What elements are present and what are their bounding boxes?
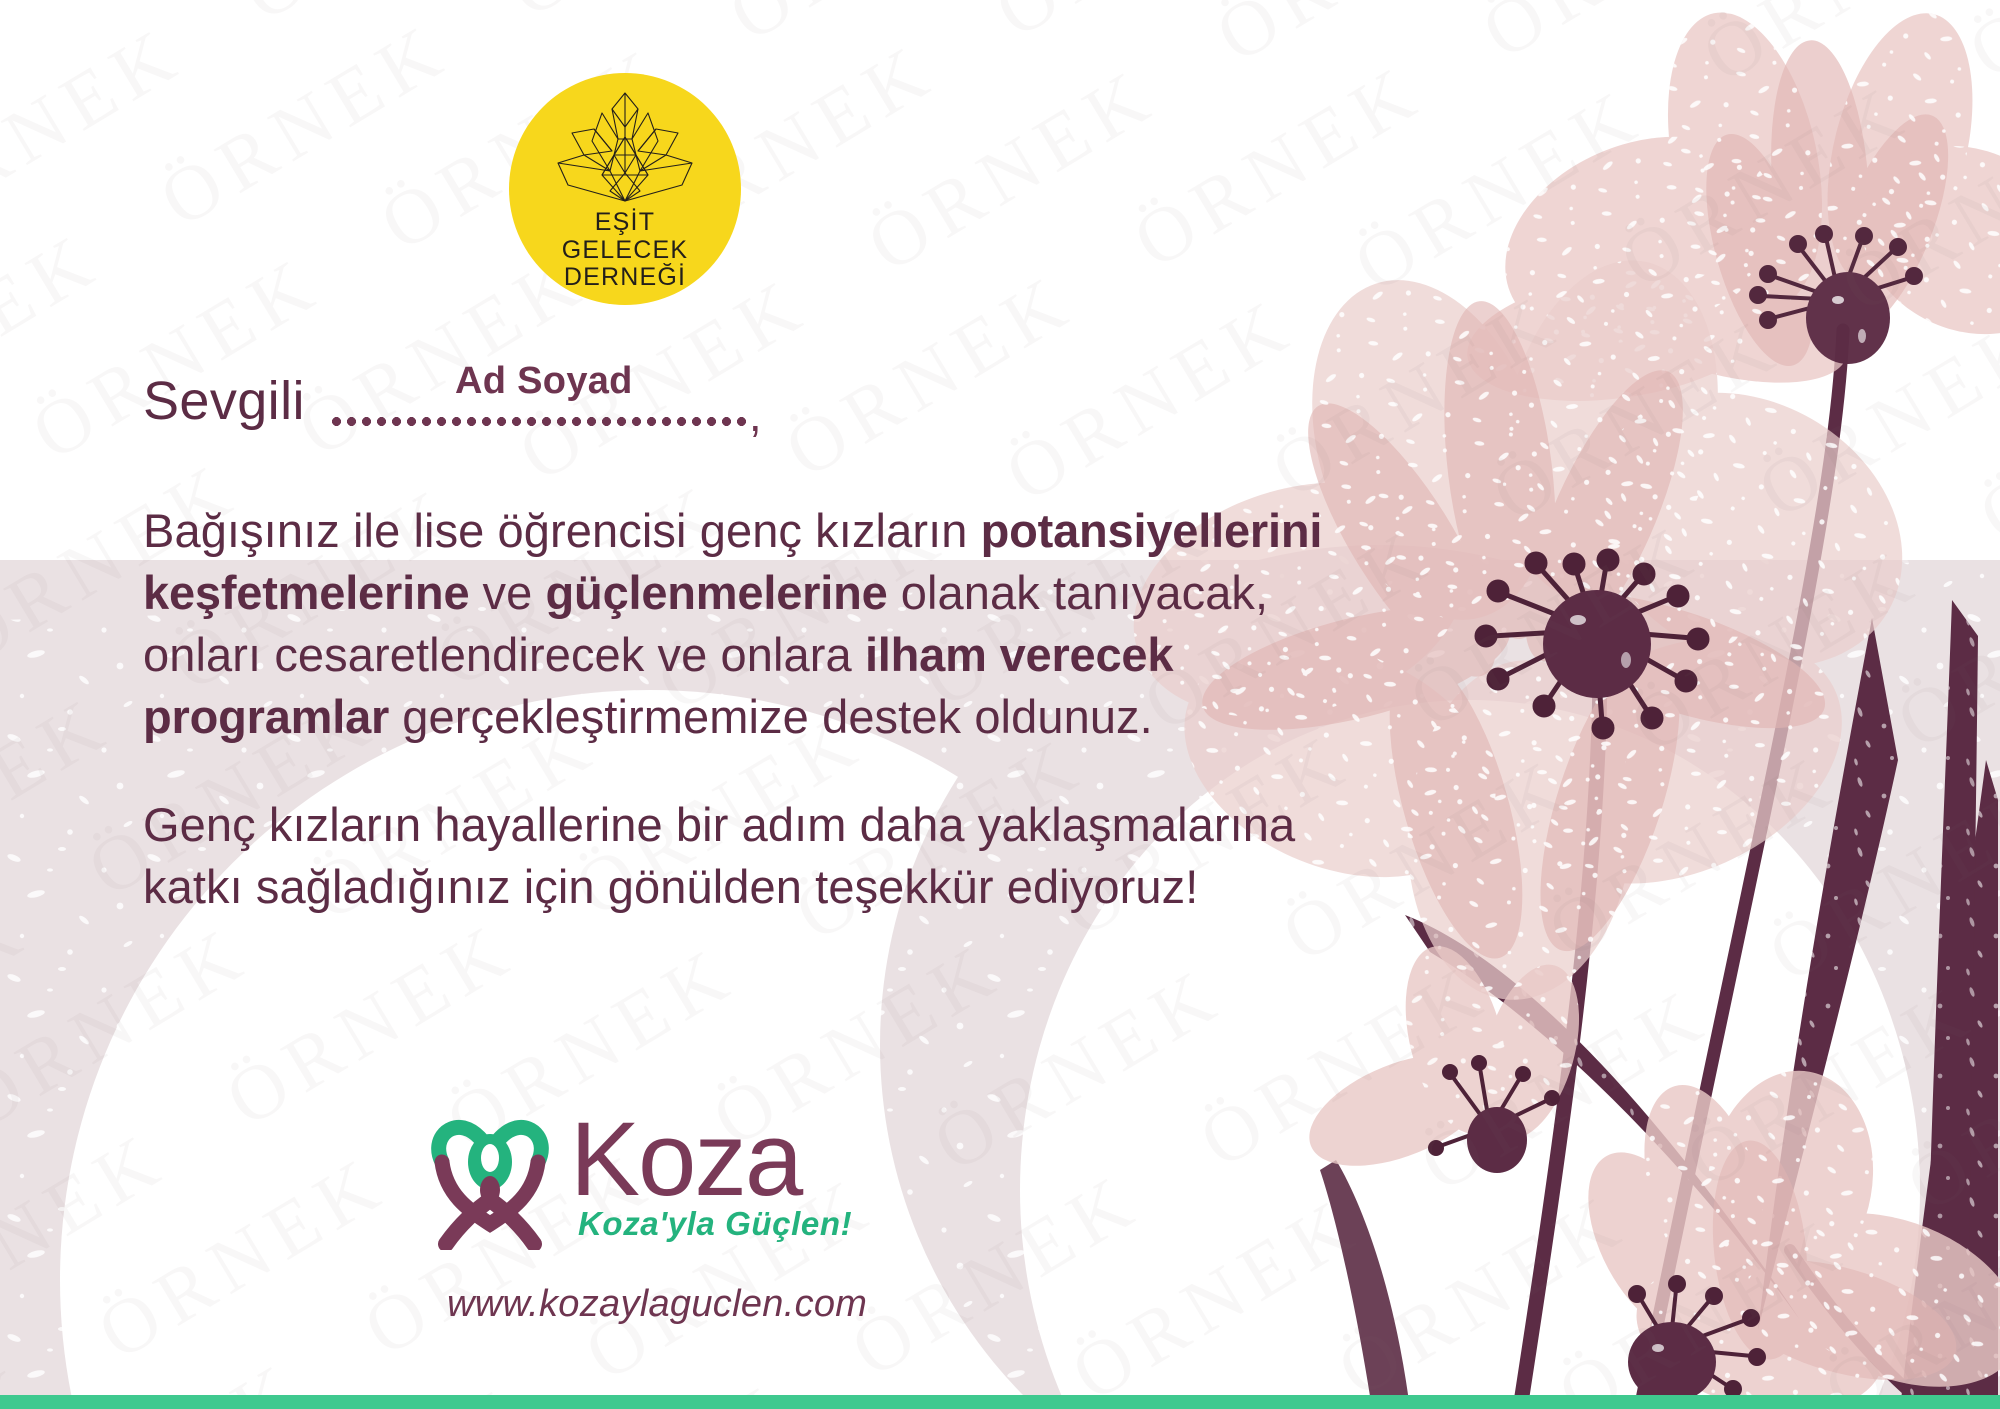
logo-line-3: DERNEĞİ: [562, 264, 689, 292]
koza-tagline: Koza'yla Güçlen!: [578, 1205, 852, 1243]
small-bud-mid-right: [1294, 936, 1597, 1189]
message-body: Bağışınız ile lise öğrencisi genç kızlar…: [143, 500, 1333, 964]
paragraph-1: Bağışınız ile lise öğrencisi genç kızlar…: [143, 500, 1333, 748]
greeting-word: Sevgili: [143, 374, 305, 430]
koza-wordmark-block: Koza Koza'yla Güçlen!: [570, 1112, 852, 1243]
recipient-name-slot[interactable]: Ad Soyad ,: [329, 368, 759, 430]
bottom-green-strip: [0, 1395, 2000, 1409]
koza-wordmark: Koza: [570, 1112, 852, 1209]
salutation-comma: ,: [749, 388, 762, 442]
association-logo: EŞİT GELECEK DERNEĞİ: [509, 73, 741, 305]
paragraph-2: Genç kızların hayallerine bir adım daha …: [143, 794, 1333, 918]
recipient-name-placeholder: Ad Soyad: [329, 360, 759, 403]
logo-line-2: GELECEK: [562, 237, 689, 265]
website-url[interactable]: www.kozaylaguclen.com: [447, 1283, 867, 1326]
dotted-fill-line: [329, 416, 747, 426]
cosmos-flower-top-right: [1459, 0, 2000, 419]
salutation: Sevgili Ad Soyad ,: [143, 368, 759, 430]
koza-brand: Koza Koza'yla Güçlen!: [430, 1112, 852, 1250]
leaf-blade-group: [1320, 600, 1998, 1409]
association-logo-text: EŞİT GELECEK DERNEĞİ: [562, 209, 689, 292]
lotus-flower-icon: [550, 89, 700, 207]
koza-heart-person-icon: [430, 1118, 550, 1250]
cosmos-flower-bottom-right: [1561, 1057, 2000, 1409]
white-wedge-shape: [1534, 1060, 1886, 1409]
logo-line-1: EŞİT: [562, 209, 689, 237]
thank-you-card: ÖRNEK ÖRNEK ÖRNEK ÖRNEK ÖRNEK ÖRNEK ÖRNE…: [0, 0, 2000, 1409]
